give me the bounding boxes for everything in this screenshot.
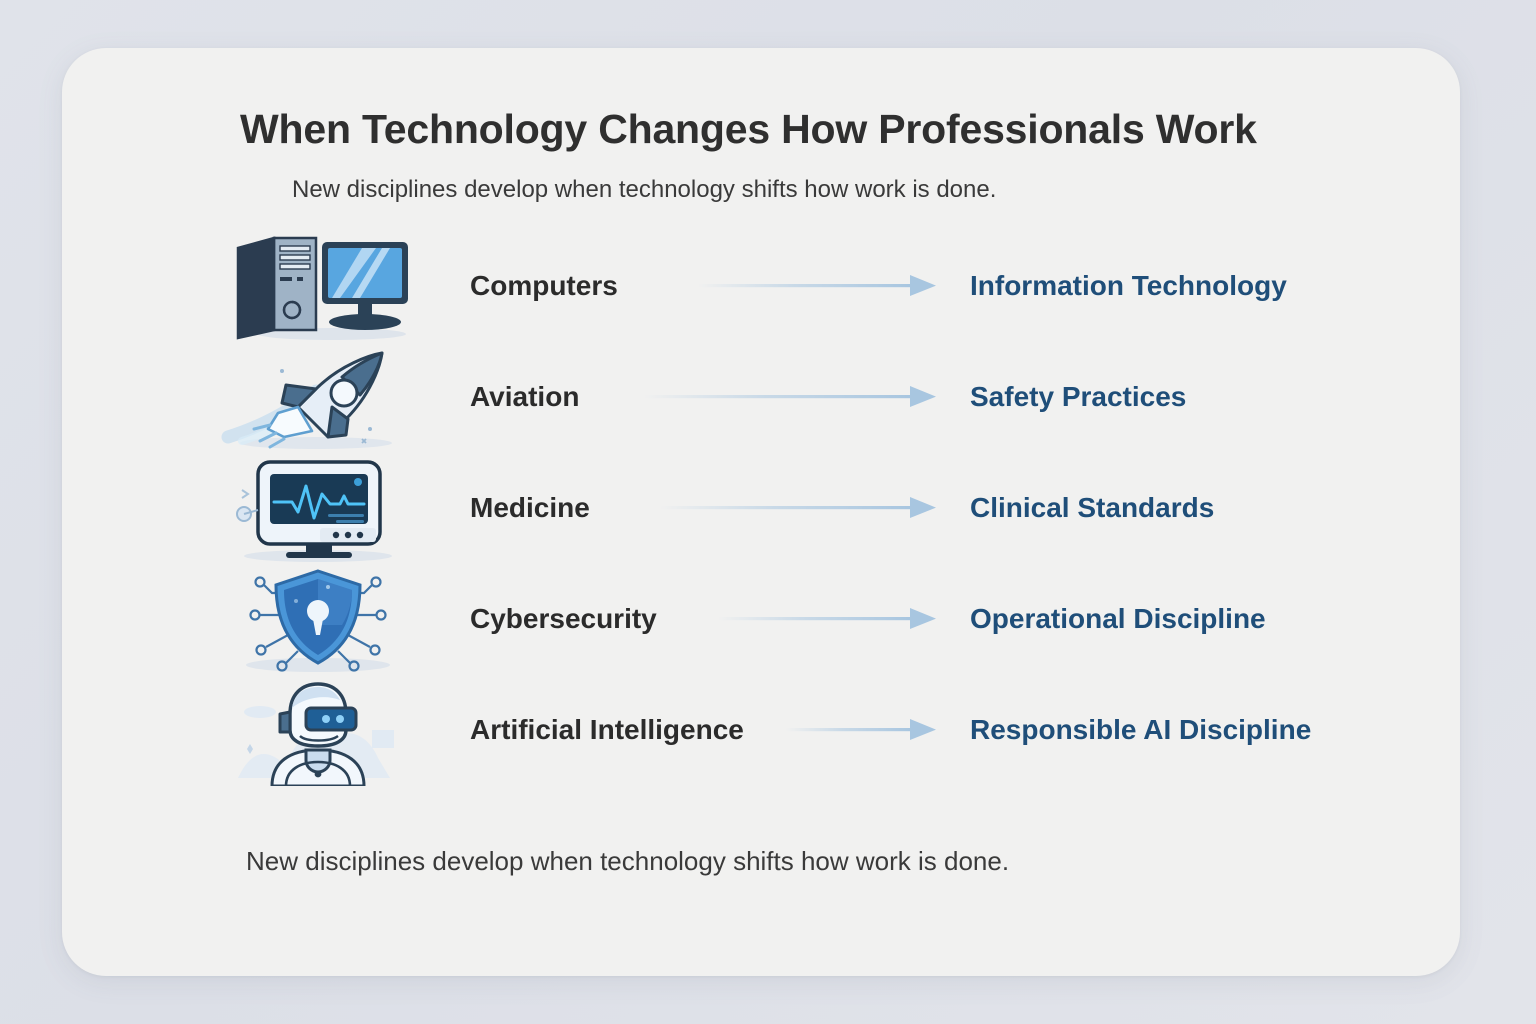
infographic-card: When Technology Changes How Professional… bbox=[62, 48, 1460, 976]
desktop-computer-icon bbox=[220, 230, 416, 342]
security-shield-icon bbox=[220, 563, 416, 675]
row-from-label: Computers bbox=[470, 272, 618, 300]
arrow-right-icon bbox=[718, 605, 936, 633]
row-to-label: Operational Discipline bbox=[970, 605, 1266, 633]
mapping-list: Computers Information Technology bbox=[62, 230, 1460, 785]
row-to-label: Clinical Standards bbox=[970, 494, 1214, 522]
arrow-right-icon bbox=[644, 383, 936, 411]
arrow-right-icon bbox=[698, 272, 936, 300]
row-from-label: Aviation bbox=[470, 383, 579, 411]
footer-note: New disciplines develop when technology … bbox=[246, 846, 1009, 877]
mapping-row: Cybersecurity Operational Discipline bbox=[62, 563, 1460, 674]
row-from-label: Medicine bbox=[470, 494, 590, 522]
ai-robot-icon bbox=[220, 674, 416, 786]
page-subtitle: New disciplines develop when technology … bbox=[292, 176, 996, 204]
arrow-right-icon bbox=[660, 494, 936, 522]
rocket-icon bbox=[220, 341, 416, 453]
mapping-row: Medicine Clinical Standards bbox=[62, 452, 1460, 563]
row-from-label: Cybersecurity bbox=[470, 605, 657, 633]
page-title: When Technology Changes How Professional… bbox=[240, 106, 1257, 153]
row-to-label: Responsible AI Discipline bbox=[970, 716, 1311, 744]
row-to-label: Safety Practices bbox=[970, 383, 1186, 411]
row-from-label: Artificial Intelligence bbox=[470, 716, 744, 744]
screenshot-canvas: When Technology Changes How Professional… bbox=[0, 0, 1536, 1024]
arrow-right-icon bbox=[786, 716, 936, 744]
mapping-row: Aviation Safety Practices bbox=[62, 341, 1460, 452]
mapping-row: Artificial Intelligence Responsible AI D… bbox=[62, 674, 1460, 785]
ecg-monitor-icon bbox=[220, 452, 416, 564]
row-to-label: Information Technology bbox=[970, 272, 1287, 300]
mapping-row: Computers Information Technology bbox=[62, 230, 1460, 341]
